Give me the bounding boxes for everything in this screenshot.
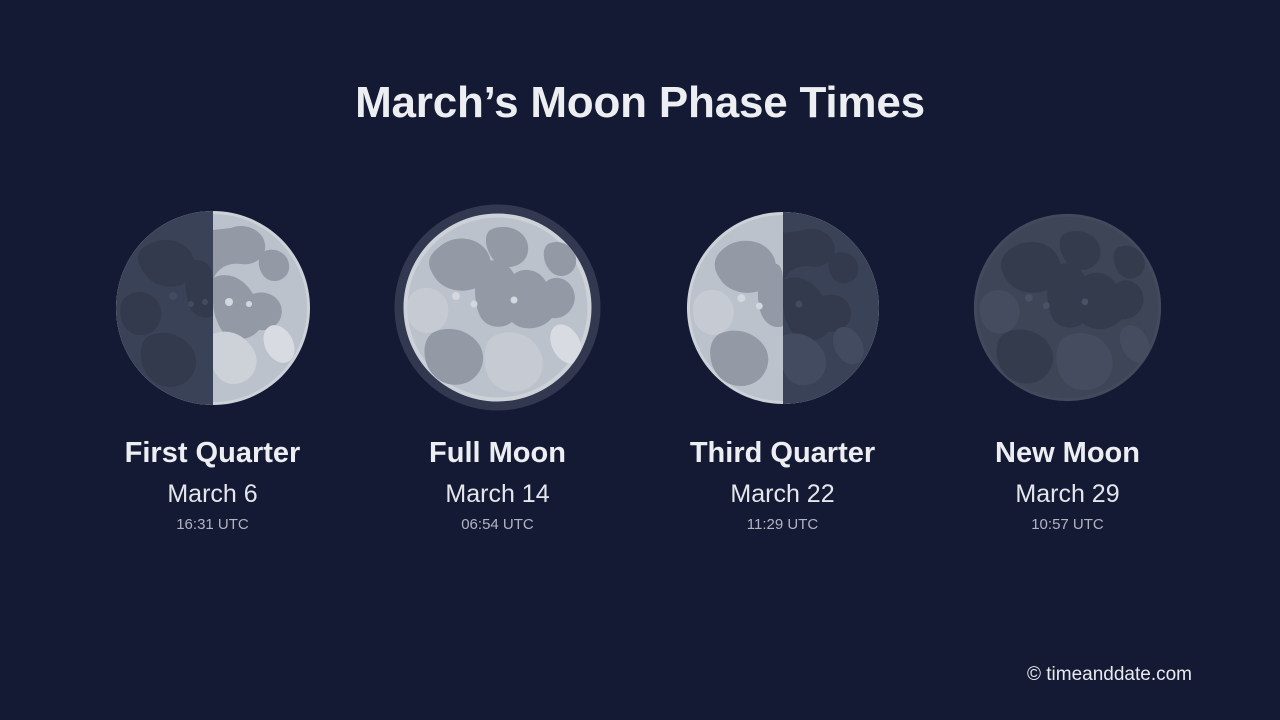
new-moon-graphic [971, 211, 1164, 404]
new-moon-icon [955, 195, 1180, 420]
phase-time: 11:29 UTC [747, 517, 818, 533]
page-title: March’s Moon Phase Times [0, 78, 1280, 128]
phase-date: March 14 [445, 481, 549, 507]
phase-item-full-moon: Full Moon March 14 06:54 UTC [355, 195, 640, 532]
phase-date: March 22 [730, 481, 834, 507]
phase-item-new-moon: New Moon March 29 10:57 UTC [925, 195, 1210, 532]
phase-name: First Quarter [125, 438, 301, 468]
third-quarter-moon-graphic [684, 209, 882, 407]
moon-phase-infographic: March’s Moon Phase Times [0, 0, 1280, 720]
full-moon-graphic [394, 204, 601, 411]
phase-time: 16:31 UTC [176, 517, 249, 533]
phase-time: 10:57 UTC [1031, 517, 1104, 533]
phase-name: New Moon [995, 438, 1140, 468]
first-quarter-moon-graphic [113, 208, 313, 408]
phase-time: 06:54 UTC [461, 517, 534, 533]
phase-item-third-quarter: Third Quarter March 22 11:29 UTC [640, 195, 925, 532]
copyright-credit: © timeanddate.com [1027, 664, 1192, 686]
full-moon-icon [385, 195, 610, 420]
first-quarter-moon-icon [100, 195, 325, 420]
phase-name: Full Moon [429, 438, 566, 468]
phase-list: First Quarter March 6 16:31 UTC [0, 195, 1280, 532]
third-quarter-moon-icon [670, 195, 895, 420]
phase-date: March 29 [1015, 481, 1119, 507]
phase-item-first-quarter: First Quarter March 6 16:31 UTC [70, 195, 355, 532]
phase-date: March 6 [167, 481, 257, 507]
phase-name: Third Quarter [690, 438, 875, 468]
